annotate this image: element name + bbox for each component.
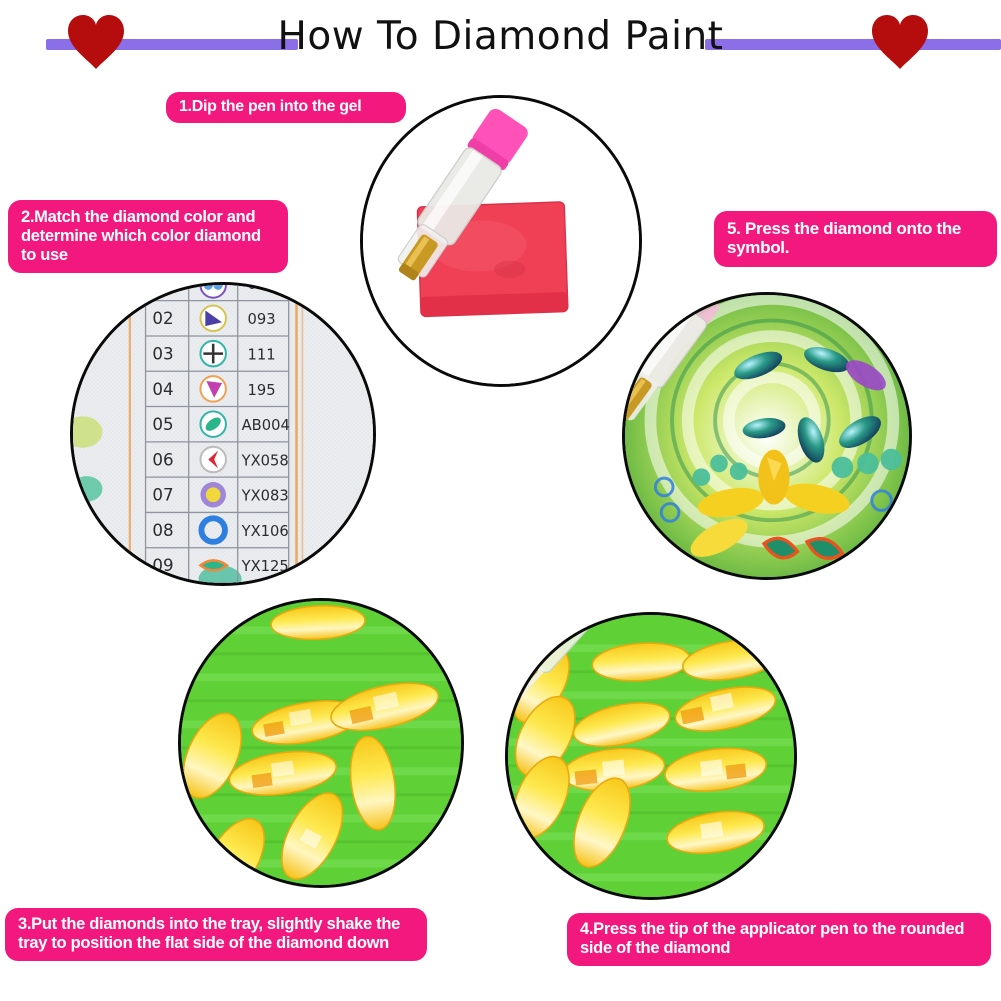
step-4-label: 4.Press the tip of the applicator pen to… [567,913,991,966]
chart-symbol-06 [200,447,225,472]
chart-symbol-09 [200,560,226,570]
svg-text:195: 195 [248,382,276,399]
svg-text:09: 09 [152,556,173,575]
chart-symbol-04 [200,376,225,401]
chart-symbol-02 [200,306,225,331]
diamonds-in-tray-photo [178,598,464,888]
step-1-label: 1.Dip the pen into the gel [166,92,406,123]
svg-text:08: 08 [152,521,173,540]
svg-text:06: 06 [152,450,173,469]
svg-text:YX125: YX125 [241,558,289,575]
pressing-diamond-onto-canvas-photo [622,292,912,580]
pen-picking-diamond-photo [505,612,797,900]
chart-symbol-07 [200,482,225,507]
svg-text:05: 05 [152,415,173,434]
step-2-label: 2.Match the diamond color and determine … [8,200,288,273]
page-title: How To Diamond Paint [0,17,1001,58]
svg-text:03: 03 [152,344,173,363]
svg-text:YX083: YX083 [241,488,289,505]
step-5-label: 5. Press the diamond onto the symbol. [714,211,997,267]
svg-text:07: 07 [152,486,173,505]
svg-text:AB004: AB004 [242,417,290,434]
svg-text:093: 093 [248,311,276,328]
chart-symbol-03 [200,341,225,366]
svg-text:YX106: YX106 [241,523,289,540]
svg-text:028: 028 [248,285,276,293]
poster-canvas: How To Diamond Paint 1.Dip the pen into … [0,0,1001,1001]
svg-text:04: 04 [152,380,173,399]
chart-symbol-05 [200,411,225,436]
svg-text:111: 111 [248,346,276,363]
step-3-label: 3.Put the diamonds into the tray, slight… [5,908,427,961]
svg-text:YX058: YX058 [241,452,289,469]
svg-text:02: 02 [152,309,173,328]
diamond-color-chart-photo: 020304 050607 0809 028 093111195 AB004YX… [70,282,376,586]
pen-dipping-into-gel-photo [360,95,642,387]
